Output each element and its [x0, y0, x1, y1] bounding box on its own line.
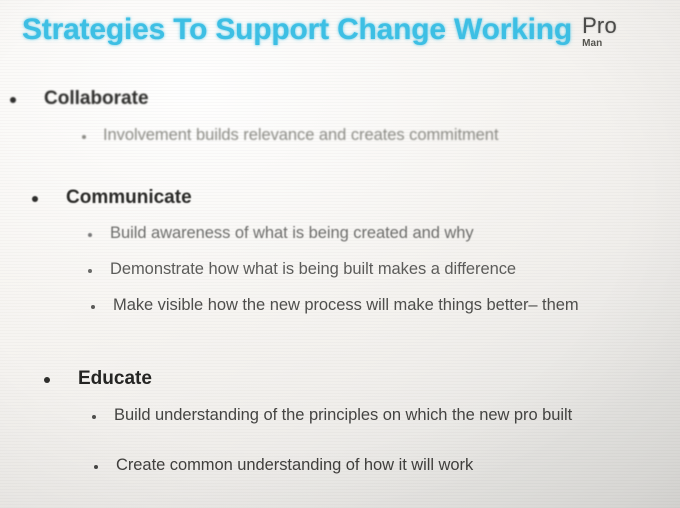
bullet-group-support: Support Don’t just train people and expe… — [0, 269, 680, 348]
corporate-logo: Pro Man — [582, 15, 617, 49]
logo-secondary-text: Man — [582, 39, 617, 49]
heading-label: Educate — [78, 368, 152, 390]
bullet-marker-level2 — [94, 465, 98, 469]
bullet-marker-level1 — [32, 196, 38, 202]
heading-label: Communicate — [66, 187, 192, 209]
bullet-group-collaborate: Collaborate Involvement builds relevance… — [0, 88, 680, 129]
bullet-marker-level2 — [92, 415, 96, 419]
heading-educate: Educate — [65, 368, 680, 390]
bullet-group-educate: Educate Build understanding of the princ… — [0, 208, 680, 269]
bullet-marker-level1 — [44, 377, 50, 383]
heading-communicate: Communicate — [53, 187, 680, 209]
sub-bullet-label: Build understanding of the principles on… — [114, 406, 680, 426]
sub-bullet-educate-1: Build understanding of the principles on… — [114, 406, 680, 426]
heading-collaborate: Collaborate — [31, 88, 680, 110]
bullet-marker-level1 — [10, 97, 16, 103]
sub-bullet-label: Create common understanding of how it wi… — [116, 456, 680, 475]
slide-body: Collaborate Involvement builds relevance… — [0, 88, 680, 348]
slide-photograph: Strategies To Support Change Working Pro… — [0, 0, 680, 508]
heading-label: Collaborate — [44, 88, 149, 110]
slide-header: Strategies To Support Change Working Pro… — [22, 13, 680, 49]
slide-title: Strategies To Support Change Working — [22, 13, 572, 47]
logo-primary-text: Pro — [582, 15, 617, 37]
sub-bullet-educate-2: Create common understanding of how it wi… — [116, 456, 680, 475]
bullet-group-communicate: Communicate Build awareness of what is b… — [0, 129, 680, 208]
